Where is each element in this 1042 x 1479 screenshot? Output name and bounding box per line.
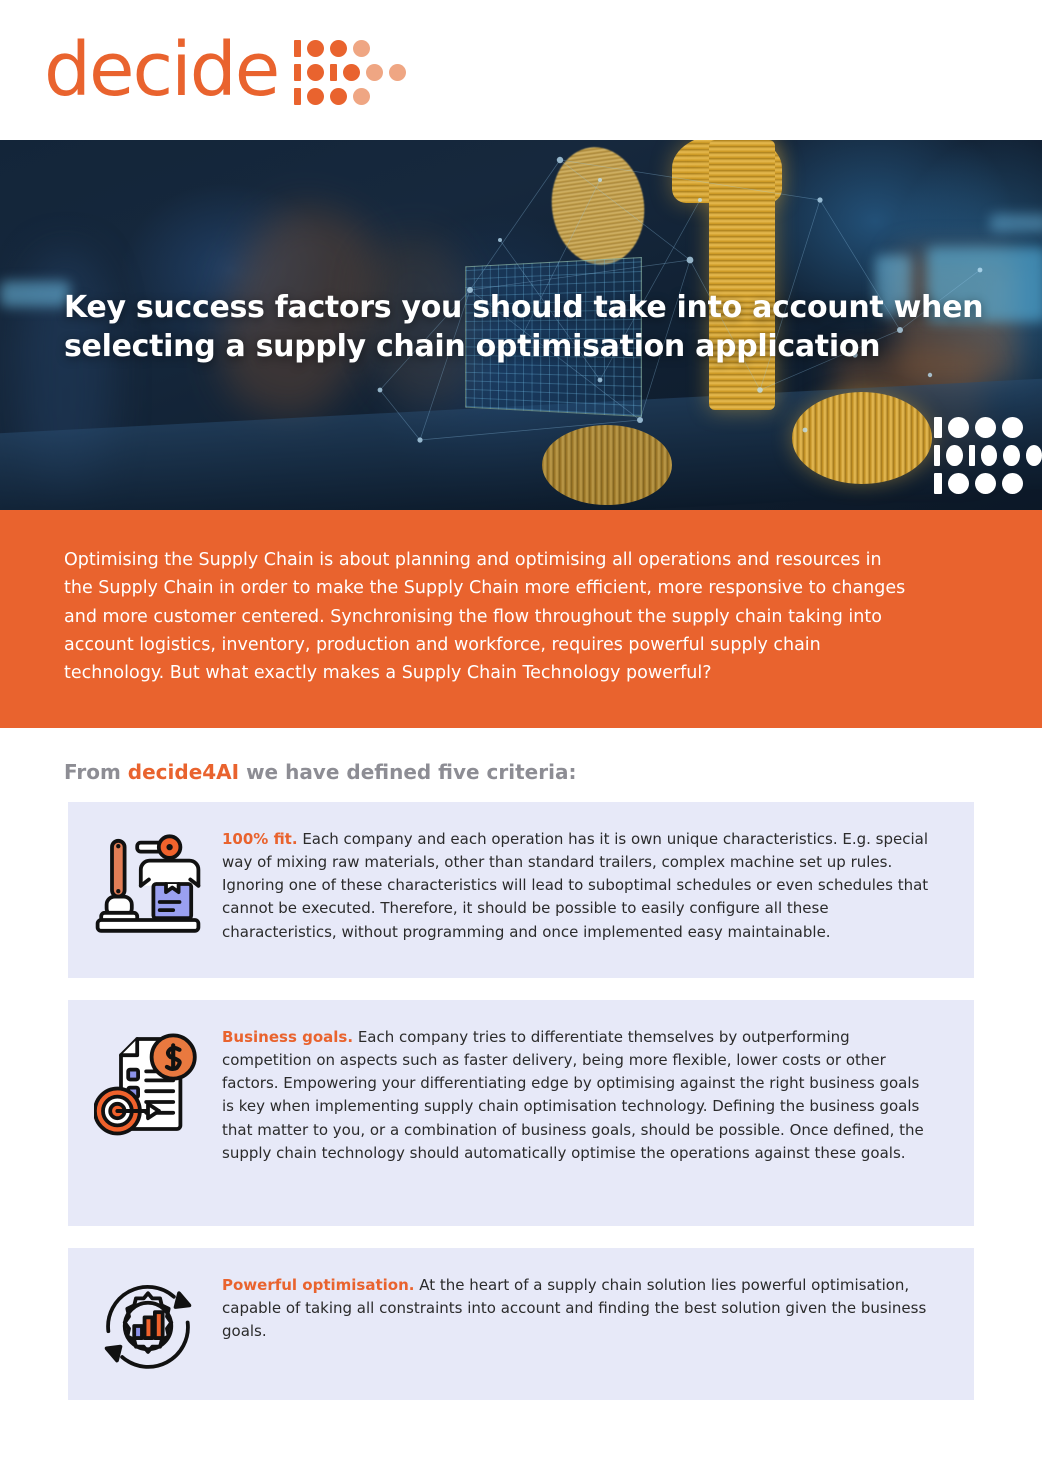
logo-circle-dot: [330, 40, 347, 57]
criteria-card-lead: Business goals.: [222, 1028, 353, 1046]
intro-paragraph: Optimising the Supply Chain is about pla…: [64, 546, 906, 688]
intro-band: Optimising the Supply Chain is about pla…: [0, 510, 1042, 728]
logo-dot-matrix: [294, 36, 406, 105]
criteria-heading-brand: decide4AI: [128, 760, 239, 784]
logo-bar-dot: [294, 88, 301, 105]
criteria-heading-suffix: we have defined five criteria:: [239, 760, 576, 784]
logo-circle-dot: [307, 88, 324, 105]
logo-wordmark: decide: [44, 33, 278, 107]
logo-circle-dot: [330, 88, 347, 105]
logo-bar: decide: [0, 0, 1042, 140]
criteria-card: Business goals. Each company tries to di…: [68, 1000, 974, 1226]
logo-circle-dot-light: [353, 88, 370, 105]
logo-circle-dot-light: [389, 64, 406, 81]
logo-circle-dot: [343, 64, 360, 81]
hero-circle-dot: [1002, 473, 1023, 494]
criteria-card-list: 100% fit. Each company and each operatio…: [0, 802, 1042, 1400]
criteria-card-description: Each company tries to differentiate them…: [222, 1028, 924, 1162]
document-target-dollar-icon: [88, 1024, 208, 1140]
logo-circle-dot-light: [353, 40, 370, 57]
hero-bar-dot: [934, 473, 942, 494]
hero-circle-dot: [975, 473, 996, 494]
criteria-card-description: Each company and each operation has it i…: [222, 830, 928, 941]
hero-banner: Key success factors you should take into…: [0, 140, 1042, 510]
logo-dot-row-3: [294, 88, 406, 105]
criteria-card: Powerful optimisation. At the heart of a…: [68, 1248, 974, 1400]
criteria-heading-prefix: From: [64, 760, 128, 784]
criteria-card-text: Business goals. Each company tries to di…: [222, 1024, 930, 1166]
logo-bar-dot: [330, 64, 337, 81]
hero-dot-matrix: [934, 417, 1042, 494]
criteria-card-lead: 100% fit.: [222, 830, 298, 848]
hero-dot-row-2: [934, 445, 1042, 466]
hero-bar-dot: [934, 445, 940, 466]
hero-title: Key success factors you should take into…: [64, 288, 1042, 366]
criteria-card: 100% fit. Each company and each operatio…: [68, 802, 974, 978]
criteria-card-lead: Powerful optimisation.: [222, 1276, 414, 1294]
logo-bar-dot: [294, 40, 301, 57]
hero-circle-dot: [981, 445, 997, 466]
decide-logo[interactable]: decide: [44, 33, 406, 107]
logo-dot-row-2: [294, 64, 406, 81]
hero-bar-dot: [969, 445, 975, 466]
hero-circle-dot: [946, 445, 962, 466]
hero-circle-dot: [975, 417, 996, 438]
logo-circle-dot: [307, 40, 324, 57]
hero-circle-dot: [948, 473, 969, 494]
logo-bar-dot: [294, 64, 301, 81]
gear-bar-chart-arrows-icon: [88, 1272, 208, 1376]
logo-circle-dot: [307, 64, 324, 81]
logo-circle-dot-light: [366, 64, 383, 81]
criteria-card-text: 100% fit. Each company and each operatio…: [222, 826, 930, 944]
hero-dot-row-1: [934, 417, 1042, 438]
hero-circle-dot: [1002, 417, 1023, 438]
logo-dot-row-1: [294, 40, 406, 57]
criteria-heading: From decide4AI we have defined five crit…: [64, 760, 1042, 784]
robotic-arm-box-icon: [88, 826, 208, 938]
hero-circle-dot: [1003, 445, 1019, 466]
hero-circle-dot: [1026, 445, 1042, 466]
criteria-card-text: Powerful optimisation. At the heart of a…: [222, 1272, 930, 1344]
hero-bar-dot: [934, 417, 942, 438]
hero-circle-dot: [948, 417, 969, 438]
hero-dot-row-3: [934, 473, 1042, 494]
